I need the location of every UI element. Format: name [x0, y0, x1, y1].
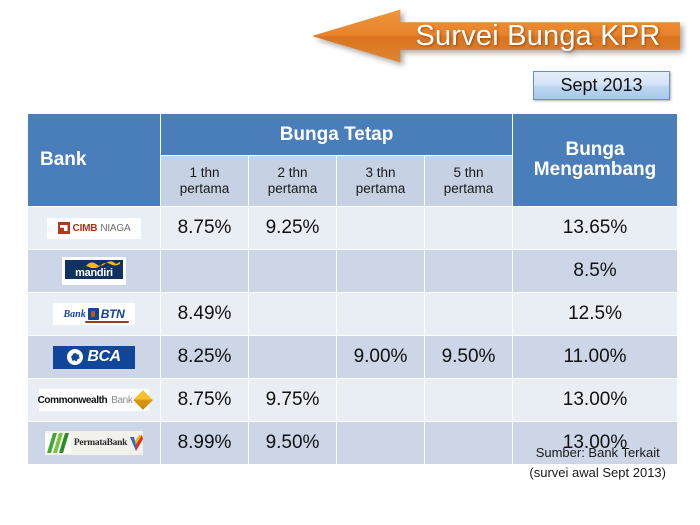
rate-fixed-3y: 9.00%	[337, 336, 425, 379]
source-note: Sumber: Bank Terkait (survei awal Sept 2…	[529, 443, 666, 483]
rate-fixed-3y	[337, 250, 425, 293]
column-header-1-thn-pertama: 1 thn pertama	[161, 156, 249, 207]
rate-fixed-2y: 9.50%	[249, 422, 337, 465]
floating-header-line1: Bunga Mengambang	[534, 139, 656, 180]
bank-logo-cell: mandiri	[28, 250, 161, 293]
permata-check-icon	[130, 435, 143, 451]
cimb-mark-icon	[58, 222, 70, 234]
rate-fixed-1y	[161, 250, 249, 293]
column-header-3-thn-pertama: 3 thn pertama	[337, 156, 425, 207]
rate-floating: 11.00%	[513, 336, 678, 379]
rate-fixed-5y	[425, 379, 513, 422]
rate-fixed-1y: 8.75%	[161, 379, 249, 422]
rate-fixed-2y	[249, 250, 337, 293]
rate-fixed-1y: 8.49%	[161, 293, 249, 336]
column-header-bunga-mengambang: Bunga Mengambang	[513, 114, 678, 207]
table-row: BCA 8.25% 9.00% 9.50% 11.00%	[28, 336, 678, 379]
rate-fixed-5y: 9.50%	[425, 336, 513, 379]
rate-fixed-2y	[249, 336, 337, 379]
sub-header-line1: 1 thn	[161, 165, 248, 181]
rate-fixed-3y	[337, 207, 425, 250]
rate-floating: 8.5%	[513, 250, 678, 293]
rate-fixed-1y: 8.99%	[161, 422, 249, 465]
table-row: mandiri 8.5%	[28, 250, 678, 293]
column-header-bank: Bank	[28, 114, 161, 207]
bank-btn-logo: Bank BTN	[53, 303, 135, 325]
rate-floating: 13.00%	[513, 379, 678, 422]
sub-header-line2: pertama	[161, 181, 248, 197]
table-row: Bank BTN 8.49% 12.5%	[28, 293, 678, 336]
rate-fixed-3y	[337, 422, 425, 465]
rate-fixed-1y: 8.25%	[161, 336, 249, 379]
source-line-1: Sumber: Bank Terkait	[529, 443, 666, 463]
cw-logo-text-1: Commonwealth	[38, 395, 108, 406]
column-header-bunga-tetap: Bunga Tetap	[161, 114, 513, 156]
table-header-row-primary: Bank Bunga Tetap Bunga Mengambang	[28, 114, 678, 156]
table-row: Commonwealth Bank 8.75% 9.75% 13.00%	[28, 379, 678, 422]
sub-header-line1: 3 thn	[337, 165, 424, 181]
bca-seal-icon	[67, 349, 83, 365]
table-row: CIMB NIAGA 8.75% 9.25% 13.65%	[28, 207, 678, 250]
btn-logo-text-1: Bank	[64, 309, 86, 320]
cw-logo-text-2: Bank	[111, 395, 132, 406]
rate-fixed-5y	[425, 250, 513, 293]
left-arrow-banner: Survei Bunga KPR	[312, 6, 680, 66]
permata-bank-logo: PermataBank	[45, 431, 143, 455]
commonwealth-diamond-icon	[134, 390, 154, 410]
btn-logo-text-2: BTN	[101, 307, 125, 321]
permata-bars-icon	[45, 433, 71, 453]
bank-logo-cell: Commonwealth Bank	[28, 379, 161, 422]
rate-fixed-2y	[249, 293, 337, 336]
sub-header-line1: 2 thn	[249, 165, 336, 181]
mandiri-badge: mandiri	[65, 260, 123, 279]
title-banner-area: Survei Bunga KPR	[0, 0, 700, 72]
bank-logo-cell: Bank BTN	[28, 293, 161, 336]
rate-fixed-2y: 9.25%	[249, 207, 337, 250]
rate-fixed-5y	[425, 422, 513, 465]
rate-fixed-5y	[425, 293, 513, 336]
rate-fixed-3y	[337, 379, 425, 422]
bank-logo-cell: CIMB NIAGA	[28, 207, 161, 250]
btn-shield-icon	[88, 308, 99, 320]
bca-logo: BCA	[53, 346, 135, 369]
date-badge: Sept 2013	[533, 71, 670, 100]
mandiri-wave-icon	[86, 261, 120, 268]
permata-logo-text: PermataBank	[74, 438, 127, 448]
cimb-logo-text-1: CIMB	[73, 223, 98, 234]
rate-fixed-2y: 9.75%	[249, 379, 337, 422]
rate-fixed-1y: 8.75%	[161, 207, 249, 250]
commonwealth-bank-logo: Commonwealth Bank	[39, 389, 149, 411]
rate-floating: 13.65%	[513, 207, 678, 250]
page-title: Survei Bunga KPR	[404, 6, 672, 66]
sub-header-line2: pertama	[425, 181, 512, 197]
rate-fixed-3y	[337, 293, 425, 336]
source-line-2: (survei awal Sept 2013)	[529, 463, 666, 483]
mandiri-logo-text: mandiri	[75, 267, 113, 279]
sub-header-line2: pertama	[337, 181, 424, 197]
bank-logo-cell: BCA	[28, 336, 161, 379]
mortgage-rate-table: Bank Bunga Tetap Bunga Mengambang 1 thn …	[27, 113, 678, 465]
sub-header-line1: 5 thn	[425, 165, 512, 181]
column-header-5-thn-pertama: 5 thn pertama	[425, 156, 513, 207]
column-header-2-thn-pertama: 2 thn pertama	[249, 156, 337, 207]
cimb-logo-text-2: NIAGA	[100, 223, 130, 234]
rate-floating: 12.5%	[513, 293, 678, 336]
btn-underline-icon	[85, 321, 129, 323]
cimb-niaga-logo: CIMB NIAGA	[47, 218, 141, 239]
mandiri-logo: mandiri	[62, 257, 126, 285]
bank-logo-cell: PermataBank	[28, 422, 161, 465]
sub-header-line2: pertama	[249, 181, 336, 197]
bca-logo-text: BCA	[87, 348, 120, 366]
rate-fixed-5y	[425, 207, 513, 250]
